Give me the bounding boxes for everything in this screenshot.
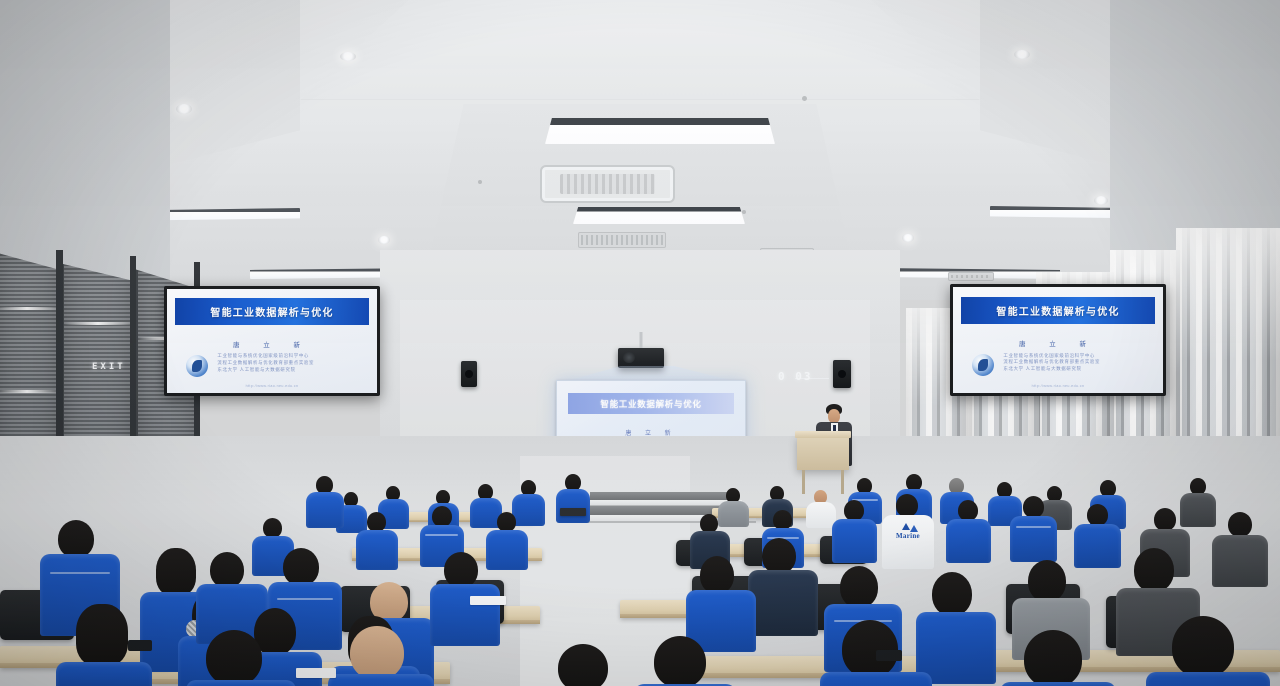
head: [283, 548, 319, 586]
right-tv-screen: 智能工业数据解析与优化 唐 立 新 工业智能与系统优化国家级前沿科学中心 流程工…: [953, 287, 1163, 393]
head: [896, 494, 918, 517]
torso: [1180, 493, 1216, 527]
head: [58, 520, 94, 558]
affil-line-2: 流程工业数据解析与优化教育部重点实验室: [217, 360, 360, 367]
left-tv-speaker-name: 唐 立 新: [167, 339, 377, 349]
left-tv-institute-logo: [186, 355, 208, 377]
head: [367, 512, 386, 532]
exit-sign: EXIT: [92, 362, 126, 372]
downlight-14: [340, 52, 356, 61]
left-tv-screen: 智能工业数据解析与优化 唐 立 新 工业智能与系统优化国家级前沿科学中心 流程工…: [167, 289, 377, 393]
torso: [430, 584, 500, 646]
torso: [946, 519, 991, 563]
head: [1024, 630, 1082, 686]
head: [932, 572, 972, 616]
torso: [1074, 524, 1121, 568]
head: [206, 630, 262, 686]
right-wall-tv[interactable]: 智能工业数据解析与优化 唐 立 新 工业智能与系统优化国家级前沿科学中心 流程工…: [950, 284, 1166, 396]
torso: [1212, 535, 1268, 587]
head: [762, 538, 796, 574]
torso: [832, 519, 877, 563]
torso: [748, 570, 818, 636]
right-tv-title: 智能工业数据解析与优化: [961, 297, 1154, 325]
affil-line-3: 东北大学 人工智能与大数据研究院: [217, 367, 360, 374]
wall-speaker-left: [461, 361, 477, 387]
paper-sheet: [296, 668, 336, 678]
sprinkler-1: [802, 96, 807, 101]
conference-room-scene: EXIT 智能工业数据解析与优化 唐 立 新 工业智能与系统优化国家级前沿科学中…: [0, 0, 1280, 686]
left-tv-title: 智能工业数据解析与优化: [175, 298, 368, 325]
head: [842, 620, 898, 678]
head-long-hair: [76, 604, 128, 666]
torso: [820, 672, 932, 686]
head: [773, 510, 792, 530]
phone-on-desk: [128, 640, 152, 651]
torso: [56, 662, 152, 686]
torso: [806, 502, 836, 528]
head: [1154, 508, 1176, 531]
left-tv-url: http://www.riao.neu.edu.cn: [167, 384, 377, 388]
ac-diffuser-far: [578, 232, 666, 248]
head: [844, 500, 864, 521]
ac-diffuser-main: [540, 165, 675, 203]
head: [432, 506, 452, 527]
ceiling-led-2: [573, 207, 745, 224]
sprinkler-2: [742, 210, 746, 214]
head: [1087, 504, 1108, 526]
presenter-head: [828, 409, 840, 423]
right-tv-speaker-name: 唐 立 新: [953, 338, 1163, 348]
downlight-13: [1014, 50, 1030, 59]
ceiling-projector[interactable]: [618, 348, 664, 368]
torso: [1010, 516, 1057, 562]
right-tv-url: http://www.riao.neu.edu.cn: [953, 384, 1163, 388]
affil-line-3: 东北大学 人工智能与大数据研究院: [1003, 366, 1146, 373]
torso: [356, 530, 398, 570]
torso: [512, 494, 545, 526]
torso: [556, 489, 590, 523]
head: [1228, 512, 1252, 537]
torso: [718, 501, 749, 527]
tshirt-logo-text: Marine: [896, 532, 920, 540]
head: [700, 556, 734, 594]
head: [840, 566, 878, 608]
left-wall-tv[interactable]: 智能工业数据解析与优化 唐 立 新 工业智能与系统优化国家级前沿科学中心 流程工…: [164, 286, 380, 396]
torso: [306, 492, 344, 528]
ceiling-recess-upper: [300, 0, 980, 100]
torso: [1146, 672, 1270, 686]
head-long-hair: [156, 548, 196, 596]
lectern: [797, 436, 849, 470]
notebook-1: [470, 596, 506, 605]
head: [1023, 496, 1044, 518]
screen-title: 智能工业数据解析与优化: [568, 393, 733, 414]
wall-speaker-right: [833, 360, 851, 388]
head: [958, 500, 978, 521]
torso: [328, 674, 434, 686]
downlight-4: [378, 236, 390, 244]
right-tv-institute-logo: [972, 354, 994, 376]
left-tv-affiliation: 工业智能与系统优化国家级前沿科学中心 流程工业数据解析与优化教育部重点实验室 东…: [217, 353, 360, 373]
sprinkler-3: [478, 180, 482, 184]
laptop-1: [560, 508, 586, 516]
torso: [1000, 682, 1116, 686]
head: [1172, 616, 1234, 678]
head: [1028, 560, 1066, 602]
head: [263, 518, 282, 538]
phone-on-desk-2: [876, 650, 902, 661]
downlight-9: [902, 234, 914, 242]
ac-vent-right-2: [948, 272, 994, 281]
torso: [486, 530, 528, 570]
head: [210, 552, 244, 588]
right-tv-affiliation: 工业智能与系统优化国家级前沿科学中心 流程工业数据解析与优化教育部重点实验室 东…: [1003, 353, 1146, 373]
torso-white-tshirt: Marine: [882, 515, 934, 569]
downlight-10: [1094, 196, 1108, 205]
ceiling-led-1: [545, 118, 775, 144]
head: [1134, 548, 1174, 592]
head: [558, 644, 608, 686]
head: [497, 512, 516, 532]
affil-line-2: 流程工业数据解析与优化教育部重点实验室: [1003, 359, 1146, 366]
digital-clock: 0 03: [778, 370, 813, 383]
head: [444, 552, 478, 588]
head-bald: [350, 626, 404, 680]
torso: [186, 680, 296, 686]
head: [654, 636, 706, 686]
downlight-2: [176, 104, 192, 114]
